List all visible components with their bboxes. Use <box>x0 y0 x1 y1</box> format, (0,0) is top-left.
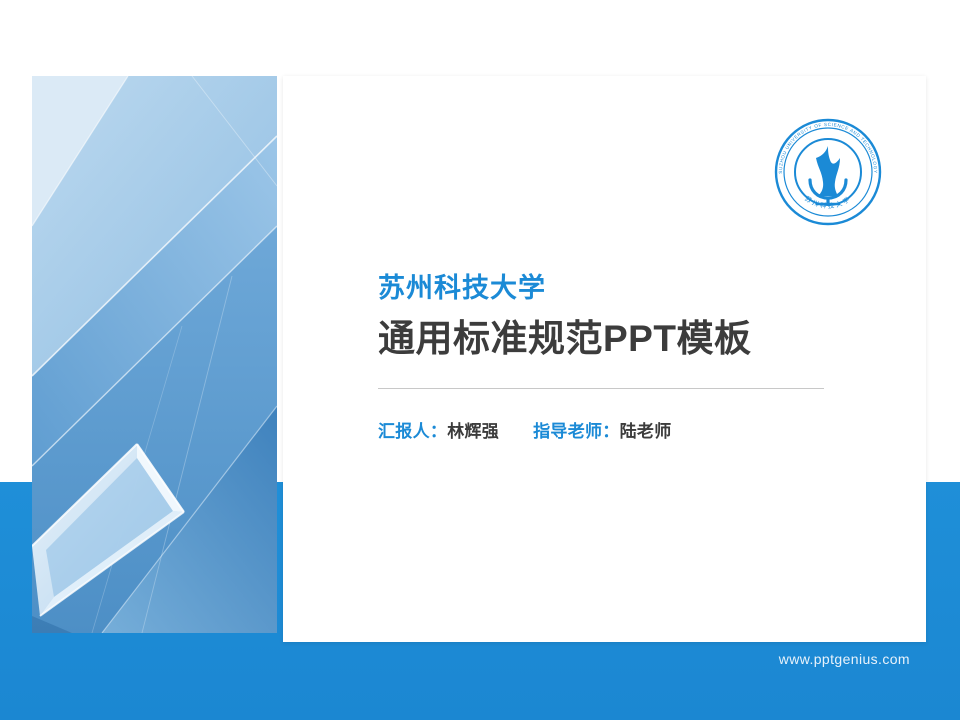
presentation-slide: SUZHOU UNIVERSITY OF SCIENCE AND TECHNOL… <box>0 0 960 720</box>
advisor: 指导老师：陆老师 <box>533 417 671 442</box>
presenter: 汇报人：林辉强 <box>378 417 499 442</box>
meta-row: 汇报人：林辉强 指导老师：陆老师 <box>378 417 848 442</box>
page-title: 通用标准规范PPT模板 <box>378 316 848 362</box>
university-logo: SUZHOU UNIVERSITY OF SCIENCE AND TECHNOL… <box>768 112 888 232</box>
advisor-label: 指导老师： <box>533 422 620 441</box>
university-logo-icon: SUZHOU UNIVERSITY OF SCIENCE AND TECHNOL… <box>768 112 888 232</box>
cover-photo <box>32 76 277 633</box>
photo-artwork <box>32 76 277 633</box>
footer-website-url[interactable]: www.pptgenius.com <box>779 651 910 667</box>
presenter-label: 汇报人： <box>378 422 447 441</box>
university-name: 苏州科技大学 <box>378 271 848 306</box>
title-block: 苏州科技大学 通用标准规范PPT模板 汇报人：林辉强 指导老师：陆老师 <box>378 271 848 442</box>
content-card: SUZHOU UNIVERSITY OF SCIENCE AND TECHNOL… <box>283 76 926 642</box>
title-divider <box>378 388 824 389</box>
presenter-name: 林辉强 <box>447 422 499 441</box>
advisor-name: 陆老师 <box>620 422 672 441</box>
